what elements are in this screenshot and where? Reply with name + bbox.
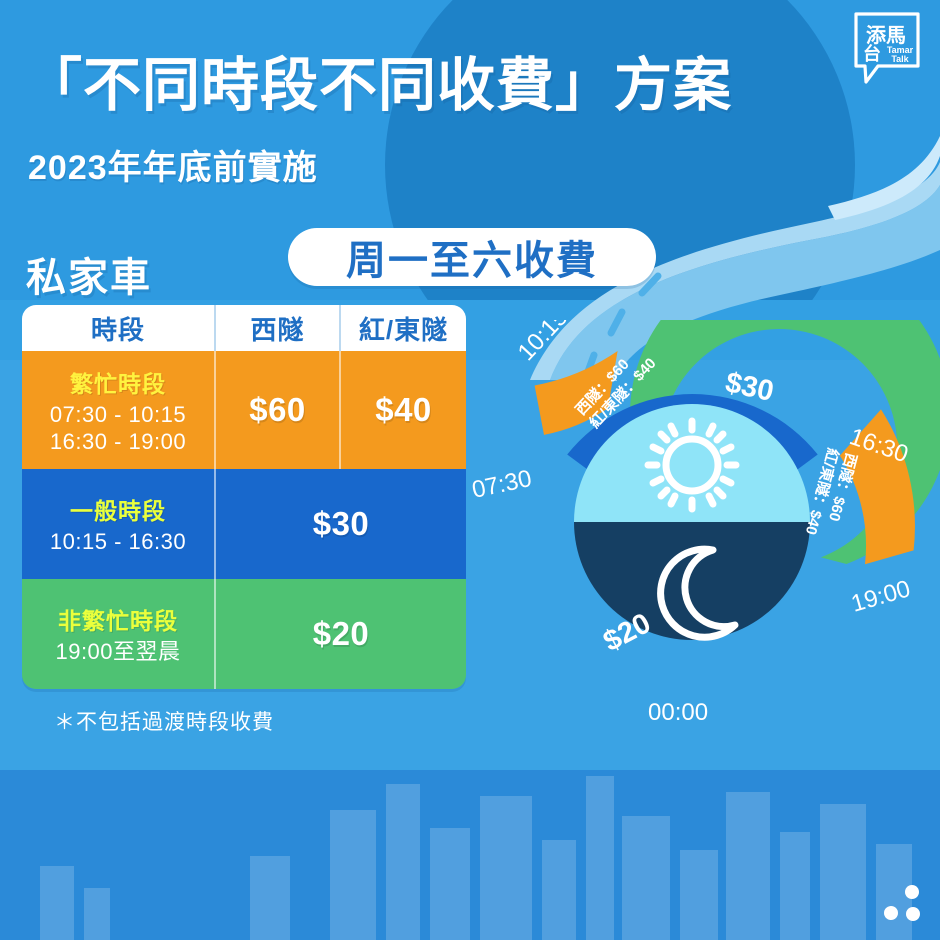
tick-label-0000: 00:00 [648,699,708,726]
fare-offpeak-all: $20 [216,579,466,689]
wedge-label-right: 西隧：$60 紅/東隧：$40 [802,446,861,542]
table-header-row: 時段 西隧 紅/東隧 [22,305,466,351]
period-time-peak-am: 07:30 - 10:15 [50,402,186,429]
page-subtitle: 2023年年底前實施 [28,140,318,189]
tick-label-1900: 19:00 [848,575,913,618]
infographic-canvas: 添馬 台 Tamar Talk 「不同時段不同收費」方案 2023年年底前實施 … [0,0,940,940]
fare-clock-chart: 西隧：$60 紅/東隧：$40 西隧：$60 紅/東隧：$40 $30 $20 … [470,320,940,740]
period-cell-normal: 一般時段 10:15 - 16:30 [22,469,216,579]
table-row-peak: 繁忙時段 07:30 - 10:15 16:30 - 19:00 $60 $40 [22,351,466,469]
fare-normal-all: $30 [216,469,466,579]
decorative-dots [882,884,926,924]
column-header-period: 時段 [22,305,216,351]
period-label-offpeak: 非繁忙時段 [58,602,178,636]
period-time-offpeak: 19:00至翌晨 [55,639,180,666]
column-header-east-tunnel: 紅/東隧 [341,305,466,351]
period-time-normal: 10:15 - 16:30 [50,529,186,556]
fare-table: 時段 西隧 紅/東隧 繁忙時段 07:30 - 10:15 16:30 - 19… [22,305,466,689]
day-range-badge: 周一至六收費 [288,228,656,286]
table-row-normal: 一般時段 10:15 - 16:30 $30 [22,469,466,579]
table-row-offpeak: 非繁忙時段 19:00至翌晨 $20 [22,579,466,689]
svg-text:台: 台 [863,43,881,64]
svg-text:Talk: Talk [891,54,909,64]
fare-peak-west: $60 [216,351,341,469]
tick-label-1015: 10:15 [513,320,574,366]
tick-label-0730: 07:30 [470,465,534,504]
skyline-decor [0,770,940,940]
period-time-peak-pm: 16:30 - 19:00 [50,429,186,456]
table-footnote: ＊不包括過渡時段收費 [54,706,274,736]
period-cell-offpeak: 非繁忙時段 19:00至翌晨 [22,579,216,689]
fare-peak-east: $40 [341,351,466,469]
other-vehicles-section: 的士全日劃一 $25 電單車/機動三輪車收費為私家車40%（即$8-$ [0,770,940,940]
page-title: 「不同時段不同收費」方案 [24,38,732,122]
period-label-peak: 繁忙時段 [70,365,166,399]
period-cell-peak: 繁忙時段 07:30 - 10:15 16:30 - 19:00 [22,351,216,469]
tamar-talk-logo[interactable]: 添馬 台 Tamar Talk [850,10,924,88]
column-header-west-tunnel: 西隧 [216,305,341,351]
vehicle-class-heading: 私家車 [26,245,152,303]
period-label-normal: 一般時段 [70,492,166,526]
